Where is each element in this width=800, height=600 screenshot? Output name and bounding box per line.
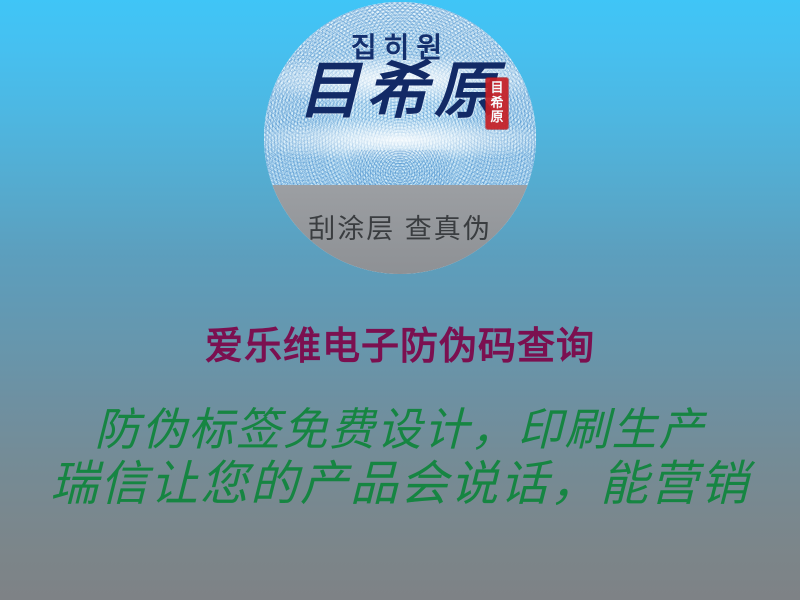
scratch-off-instruction: 刮涂层 查真伪: [308, 207, 492, 246]
seal-char-1: 目: [486, 81, 508, 96]
anti-counterfeit-label: 집히원 目希原 目 希 原 刮涂层 查真伪: [264, 2, 536, 274]
seal-char-2: 希: [486, 96, 508, 111]
page-title: 爱乐维电子防伪码查询: [0, 315, 800, 370]
slogan-line-2: 瑞信让您的产品会说话，能营销: [0, 457, 800, 514]
poster-canvas: 집히원 目希原 目 希 原 刮涂层 查真伪 爱乐维电子防伪码查询 防伪标签免费设…: [0, 0, 800, 600]
seal-char-3: 原: [486, 110, 508, 125]
slogan-block: 防伪标签免费设计，印刷生产 瑞信让您的产品会说话，能营销: [0, 404, 800, 514]
label-disc: 집히원 目希原 目 希 原 刮涂层 查真伪: [264, 2, 536, 274]
slogan-line-1: 防伪标签免费设计，印刷生产: [0, 404, 800, 457]
scratch-off-layer[interactable]: 刮涂层 查真伪: [264, 185, 536, 274]
red-seal-stamp-icon: 目 希 原: [486, 78, 508, 129]
